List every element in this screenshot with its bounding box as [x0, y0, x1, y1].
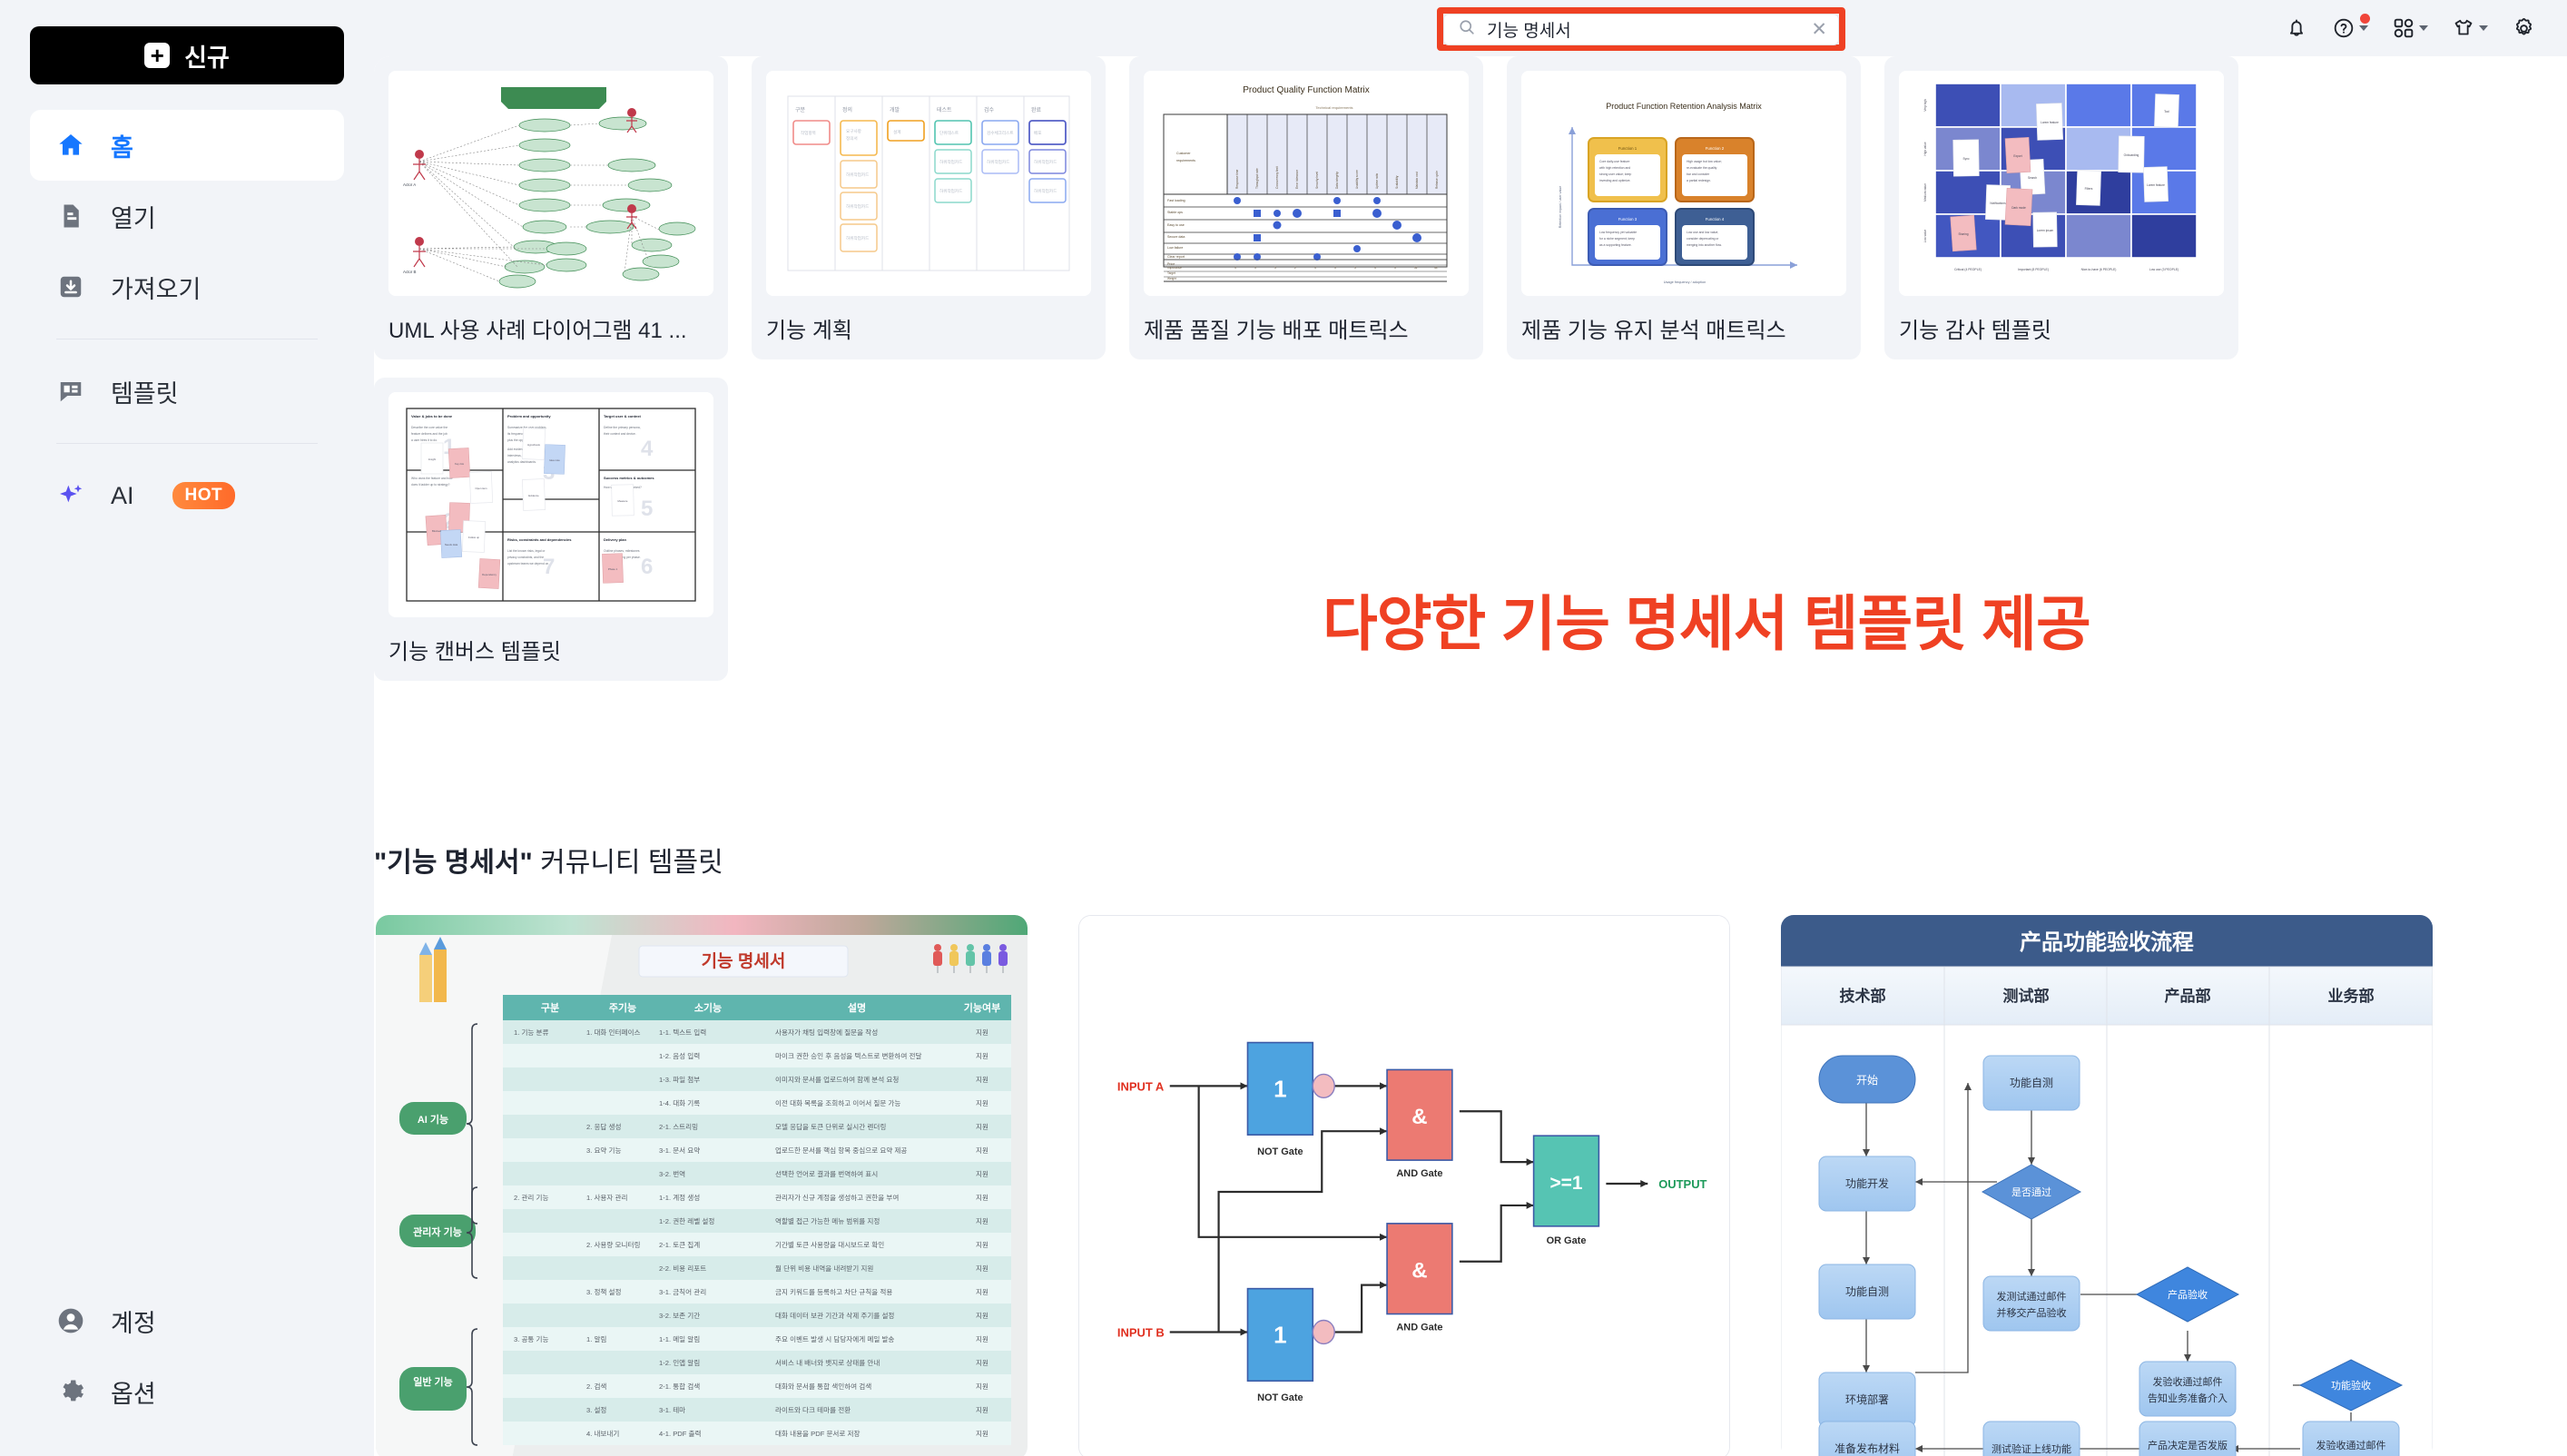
svg-text:지원: 지원 [976, 1430, 988, 1438]
sidebar-item-label: 템플릿 [111, 374, 179, 409]
svg-text:하위작업카드: 하위작업카드 [939, 188, 962, 194]
settings-gear-icon[interactable] [2512, 16, 2536, 41]
search-bar[interactable]: 기능 명세서 ✕ [1443, 14, 1839, 45]
flow-node: 是否通过 [2011, 1186, 2051, 1198]
svg-text:테스트: 테스트 [937, 106, 952, 113]
svg-text:라이트와 다크 테마를 전환: 라이트와 다크 테마를 전환 [775, 1405, 851, 1414]
sidebar-item-home[interactable]: 홈 [30, 110, 344, 181]
lane-header: 技术部 [1840, 987, 1886, 1005]
svg-text:지원: 지원 [976, 1076, 988, 1084]
svg-text:4: 4 [641, 437, 654, 461]
svg-text:3. 설정: 3. 설정 [586, 1405, 606, 1414]
svg-text:Dark mode: Dark mode [2011, 206, 2026, 210]
svg-text:Stable ops: Stable ops [1167, 211, 1183, 214]
svg-text:Success metrics & outcomes: Success metrics & outcomes [604, 476, 654, 480]
svg-text:Function 4: Function 4 [1706, 217, 1725, 221]
svg-text:1-2. 음성 입력: 1-2. 음성 입력 [659, 1052, 700, 1060]
svg-text:4: 4 [1234, 266, 1236, 270]
thumb-title: Product Function Retention Analysis Matr… [1606, 102, 1762, 111]
svg-text:4-1. PDF 출력: 4-1. PDF 출력 [659, 1429, 701, 1438]
svg-text:strong user value; keep: strong user value; keep [1599, 172, 1631, 176]
svg-text:Retention impact / user value: Retention impact / user value [1559, 186, 1562, 229]
chevron-down-icon[interactable] [2479, 25, 2488, 31]
gate-symbol: 1 [1274, 1077, 1286, 1102]
svg-text:3-2. 보존 기간: 3-2. 보존 기간 [659, 1311, 700, 1320]
svg-text:Describe the core value the: Describe the core value the [411, 426, 448, 429]
gate-label: AND Gate [1396, 1322, 1442, 1333]
gate-symbol: >=1 [1549, 1173, 1582, 1194]
svg-text:지원: 지원 [976, 1123, 988, 1131]
svg-text:검수: 검수 [984, 107, 995, 113]
community-section-heading: "기능 명세서" 커뮤니티 템플릿 [374, 840, 723, 880]
svg-text:Open item: Open item [476, 487, 488, 490]
svg-text:관리자가 신규 계정을 생성하고 권한을 부여: 관리자가 신규 계정을 생성하고 권한을 부여 [775, 1193, 899, 1202]
home-icon [56, 131, 85, 160]
topbar-icons [2285, 16, 2536, 41]
svg-text:Security level: Security level [1315, 172, 1319, 189]
community-heading-query: "기능 명세서" [374, 848, 533, 878]
topbar: 기능 명세서 ✕ [374, 0, 2567, 56]
svg-text:feature delivers and the job: feature delivers and the job [411, 432, 448, 436]
svg-text:정의: 정의 [842, 106, 852, 113]
flow-node: 功能自测 [1845, 1285, 1889, 1298]
input-label: INPUT B [1117, 1325, 1165, 1339]
flow-node: 发验收通过邮件 [2316, 1439, 2386, 1451]
svg-text:Very high: Very high [1923, 99, 1927, 112]
svg-text:구분: 구분 [795, 107, 806, 113]
svg-text:2: 2 [1294, 266, 1296, 270]
template-thumbnail: Product Function Retention Analysis Matr… [1521, 71, 1846, 296]
svg-text:3: 3 [1334, 266, 1336, 270]
chevron-down-icon[interactable] [2359, 25, 2368, 31]
svg-text:requirements: requirements [1176, 159, 1195, 162]
svg-text:검수체크리스트: 검수체크리스트 [987, 130, 1014, 136]
svg-text:Target: Target [1167, 271, 1175, 275]
community-card-flowchart[interactable]: 产品功能验收流程 技术部 测试部 产品部 业务部 [1781, 915, 2433, 1456]
svg-text:지원: 지원 [976, 1170, 988, 1178]
sidebar-item-open[interactable]: 열기 [30, 181, 344, 251]
svg-text:Technical requirements: Technical requirements [1315, 105, 1352, 110]
svg-text:4: 4 [1374, 266, 1376, 270]
svg-text:Weight: Weight [1167, 277, 1176, 280]
svg-text:Evidence: Evidence [528, 494, 539, 497]
template-card-title: 제품 품질 기능 배포 매트릭스 [1144, 296, 1469, 359]
svg-text:업로드한 문서를 핵심 항목 중심으로 요약 제공: 업로드한 문서를 핵심 항목 중심으로 요약 제공 [775, 1146, 907, 1155]
sidebar-item-template[interactable]: 템플릿 [30, 356, 344, 427]
svg-text:privacy constraints, and the: privacy constraints, and the [507, 556, 544, 559]
svg-text:Scalability: Scalability [1395, 175, 1399, 189]
notification-bell-icon[interactable] [2285, 16, 2308, 40]
svg-text:Lorem feature: Lorem feature [2147, 183, 2165, 187]
flow-node: 测试验证上线功能 [1992, 1442, 2071, 1455]
svg-text:5: 5 [1354, 266, 1356, 270]
svg-text:월 단위 비용 내역을 내려받기 지원: 월 단위 비용 내역을 내려받기 지원 [775, 1264, 873, 1273]
col-header: 주기능 [609, 1001, 636, 1014]
sidebar-item-label: 열기 [111, 199, 156, 234]
svg-text:1-1. 텍스트 입력: 1-1. 텍스트 입력 [659, 1028, 706, 1037]
sidebar-nav: 홈 열기 가져오기 템플릿 [30, 110, 344, 531]
svg-text:3-2. 번역: 3-2. 번역 [659, 1169, 685, 1178]
svg-text:지원: 지원 [976, 1406, 988, 1414]
flow-node: 环境部署 [1845, 1393, 1889, 1406]
sidebar-item-label: 계정 [111, 1304, 156, 1339]
sidebar-item-import[interactable]: 가져오기 [30, 251, 344, 322]
apps-grid-icon[interactable] [2392, 16, 2428, 40]
svg-text:Clear report: Clear report [1167, 255, 1185, 259]
svg-text:하위작업카드: 하위작업카드 [1034, 159, 1057, 165]
svg-text:Dependency: Dependency [482, 573, 497, 576]
svg-text:Maintain cost: Maintain cost [1415, 172, 1419, 189]
flow-node: 产品决定是否发版 [2148, 1439, 2228, 1451]
gate-label: AND Gate [1396, 1168, 1442, 1179]
svg-text:52: 52 [1414, 266, 1418, 270]
svg-text:for a niche segment; keep: for a niche segment; keep [1599, 237, 1635, 241]
svg-text:1-2. 인앱 알림: 1-2. 인앱 알림 [659, 1358, 700, 1367]
svg-text:Customer: Customer [1176, 152, 1191, 155]
svg-text:지원: 지원 [976, 1382, 988, 1391]
svg-text:Nice-to-have (6 PEOPLE): Nice-to-have (6 PEOPLE) [2081, 268, 2117, 271]
svg-text:지원: 지원 [976, 1264, 988, 1273]
svg-text:Easy to use: Easy to use [1167, 223, 1185, 227]
svg-text:Filters: Filters [2085, 187, 2093, 191]
svg-text:Define the primary persona,: Define the primary persona, [604, 426, 641, 429]
svg-text:2-2. 비용 리포트: 2-2. 비용 리포트 [659, 1264, 706, 1273]
flow-node: 准备发布材料 [1834, 1441, 1900, 1455]
account-icon [56, 1306, 85, 1335]
svg-text:Search: Search [2028, 176, 2037, 180]
svg-text:Response time: Response time [1235, 170, 1239, 189]
svg-text:does it ladder up to strategy?: does it ladder up to strategy? [411, 483, 450, 487]
col-header: 소기능 [694, 1001, 722, 1014]
svg-text:2. 관리 기능: 2. 관리 기능 [514, 1193, 549, 1202]
svg-text:44: 44 [1434, 266, 1438, 270]
svg-text:2-1. 토큰 집계: 2-1. 토큰 집계 [659, 1240, 700, 1249]
svg-text:하위작업카드: 하위작업카드 [846, 235, 869, 241]
template-card[interactable]: 구분정의개발 테스트검수완료 [752, 56, 1106, 359]
sidebar-item-ai[interactable]: AI HOT [30, 460, 344, 531]
col-header: 구분 [541, 1002, 559, 1014]
svg-text:마이크 권한 승인 후 음성을 텍스트로 변환하여 전달: 마이크 권한 승인 후 음성을 텍스트로 변환하여 전달 [775, 1051, 921, 1060]
community-card-logic-gates[interactable]: 1 NOT Gate 1 NOT Gate & AND Gate & [1078, 915, 1730, 1456]
svg-text:지원: 지원 [976, 1146, 988, 1155]
search-icon [1458, 18, 1476, 41]
svg-text:3: 3 [1254, 266, 1256, 270]
svg-text:analytics dashboards.: analytics dashboards. [507, 460, 536, 464]
plus-icon: + [144, 43, 170, 68]
svg-text:단위테스트: 단위테스트 [939, 130, 959, 136]
svg-text:Hypothesis: Hypothesis [527, 443, 540, 447]
flow-node: 功能验收 [2331, 1379, 2371, 1392]
gate-symbol: & [1411, 1259, 1427, 1284]
svg-text:Export: Export [2013, 154, 2021, 158]
svg-text:1. 사용자 관리: 1. 사용자 관리 [586, 1193, 627, 1202]
svg-text:완료: 완료 [1031, 106, 1042, 113]
svg-text:Follow up: Follow up [468, 536, 479, 539]
svg-text:5: 5 [1274, 266, 1276, 270]
svg-text:1-1. 메일 알림: 1-1. 메일 알림 [659, 1334, 700, 1343]
svg-text:Outline phases, milestones: Outline phases, milestones [604, 549, 640, 553]
svg-text:서비스 내 배너와 뱃지로 상태를 안내: 서비스 내 배너와 뱃지로 상태를 안내 [775, 1358, 880, 1367]
lane-header: 业务部 [2328, 987, 2375, 1005]
svg-text:지원: 지원 [976, 1099, 988, 1107]
col-header: 기능여부 [964, 1001, 1000, 1014]
svg-text:Insight: Insight [428, 457, 436, 461]
content-panel: Actor AActor B UML 사용 사례 다이어그램 41 ... [374, 56, 2567, 1456]
svg-text:지원: 지원 [976, 1335, 988, 1343]
flow-node: 产品验收 [2168, 1288, 2208, 1301]
svg-text:하위작업카드: 하위작업카드 [987, 159, 1009, 165]
gate-label: NOT Gate [1257, 1146, 1303, 1157]
gate-symbol: 1 [1274, 1323, 1286, 1348]
help-question-icon[interactable] [2332, 16, 2368, 40]
svg-text:Error tolerance: Error tolerance [1295, 170, 1299, 189]
svg-text:1-4. 대화 기록: 1-4. 대화 기록 [659, 1099, 700, 1107]
svg-text:Throughput rate: Throughput rate [1255, 168, 1259, 189]
svg-text:Sync: Sync [1962, 157, 1969, 161]
sparkle-icon [56, 481, 85, 510]
flow-node: 发验收通过邮件 [2153, 1375, 2223, 1388]
template-card[interactable]: Lorem featureTool SyncOnboarding SearchF… [1884, 56, 2238, 359]
group-pill: AI 기능 [418, 1113, 448, 1126]
lane-header: 产品部 [2165, 987, 2211, 1005]
svg-text:2. 사용량 모니터링: 2. 사용량 모니터링 [586, 1240, 640, 1249]
template-card[interactable]: Actor AActor B UML 사용 사례 다이어그램 41 ... [374, 56, 728, 359]
svg-text:3-1. 문서 요약: 3-1. 문서 요약 [659, 1146, 700, 1155]
template-card[interactable]: Product Quality Function Matrix Technica… [1129, 56, 1483, 359]
sidebar-bottom: 계정 옵션 [30, 1285, 344, 1427]
svg-text:지원: 지원 [976, 1359, 988, 1367]
svg-text:High usage but low value;: High usage but low value; [1687, 160, 1722, 163]
svg-text:their context and device.: their context and device. [604, 432, 636, 436]
svg-text:List the known risks, legal or: List the known risks, legal or [507, 549, 546, 553]
svg-text:7: 7 [543, 555, 555, 579]
search-input[interactable]: 기능 명세서 [1487, 17, 1800, 42]
svg-text:Risks, constraints and depende: Risks, constraints and dependencies [507, 537, 572, 542]
sidebar: + 신규 홈 열기 가져오기 [0, 0, 374, 1456]
gate-label: NOT Gate [1257, 1392, 1303, 1403]
community-card-spec-table[interactable]: 기능 명세서 [376, 915, 1028, 1456]
svg-text:대화 내용을 PDF 문서로 저장: 대화 내용을 PDF 문서로 저장 [775, 1429, 861, 1438]
svg-text:지원: 지원 [976, 1028, 988, 1037]
sidebar-item-label: 가져오기 [111, 270, 201, 305]
svg-text:2. 응답 생성: 2. 응답 생성 [586, 1122, 622, 1131]
svg-text:Onboarding: Onboarding [2124, 153, 2139, 157]
svg-text:a partial redesign.: a partial redesign. [1687, 179, 1711, 182]
svg-text:Function 3: Function 3 [1618, 217, 1638, 221]
svg-text:하위작업카드: 하위작업카드 [1034, 188, 1057, 194]
svg-text:Usability score: Usability score [1355, 170, 1359, 189]
sidebar-divider [56, 443, 318, 444]
lane-header: 测试部 [2003, 987, 2050, 1005]
community-template-grid: 기능 명세서 [376, 915, 2433, 1456]
gate-symbol: & [1411, 1105, 1427, 1129]
sidebar-item-label: 옵션 [111, 1374, 156, 1410]
svg-text:High value: High value [1923, 142, 1927, 155]
svg-text:요구사항: 요구사항 [846, 128, 862, 134]
svg-text:with high retention and: with high retention and [1599, 166, 1630, 170]
svg-text:지원: 지원 [976, 1288, 988, 1296]
svg-text:지원: 지원 [976, 1052, 988, 1060]
svg-text:Concurrency limit: Concurrency limit [1275, 166, 1279, 189]
svg-text:지원: 지원 [976, 1312, 988, 1320]
template-card-title: 기능 계획 [766, 296, 1091, 359]
svg-text:하위작업카드: 하위작업카드 [846, 172, 869, 178]
svg-text:2. 검색: 2. 검색 [586, 1382, 606, 1391]
svg-text:Low use (3 PEOPLE): Low use (3 PEOPLE) [2149, 268, 2179, 271]
svg-text:consider deprecating or: consider deprecating or [1687, 237, 1719, 241]
sidebar-item-account[interactable]: 계정 [30, 1285, 344, 1356]
chevron-down-icon[interactable] [2419, 25, 2428, 31]
flow-node: 开始 [1856, 1074, 1878, 1087]
svg-text:Important (8 PEOPLE): Important (8 PEOPLE) [2018, 268, 2049, 271]
svg-text:지원: 지원 [976, 1241, 988, 1249]
svg-text:Release cycle: Release cycle [1435, 171, 1439, 189]
svg-text:Delivery plan: Delivery plan [604, 537, 626, 542]
group-pill: 일반 기능 [413, 1375, 453, 1388]
template-icon [56, 377, 85, 406]
input-label: INPUT A [1117, 1079, 1165, 1093]
svg-text:대화와 문서를 통합 색인하여 검색: 대화와 문서를 통합 색인하여 검색 [775, 1382, 871, 1391]
svg-text:지원: 지원 [976, 1217, 988, 1225]
svg-text:as a supporting feature.: as a supporting feature. [1599, 243, 1632, 247]
new-button-label: 신규 [184, 38, 230, 74]
template-card-title: UML 사용 사례 다이어그램 41 ... [388, 296, 713, 359]
svg-text:3-1. 테마: 3-1. 테마 [659, 1406, 685, 1414]
svg-text:Usage frequency / adoption: Usage frequency / adoption [1664, 280, 1706, 284]
svg-text:Secure data: Secure data [1167, 235, 1185, 239]
community-heading-rest: 커뮤니티 템플릿 [533, 848, 723, 878]
col-header: 설명 [848, 1001, 866, 1014]
svg-text:1. 알림: 1. 알림 [586, 1334, 606, 1343]
svg-text:Problem and opportunity: Problem and opportunity [507, 414, 551, 418]
sidebar-item-label: AI [111, 482, 134, 510]
svg-text:기간별 토큰 사용량을 대시보드로 확인: 기간별 토큰 사용량을 대시보드로 확인 [775, 1240, 884, 1249]
svg-text:Core daily-use feature: Core daily-use feature [1599, 160, 1629, 163]
template-thumbnail: Value & jobs to be done Problem and oppo… [388, 392, 713, 617]
svg-text:Tool: Tool [2164, 110, 2169, 113]
template-card[interactable]: Product Function Retention Analysis Matr… [1507, 56, 1861, 359]
svg-text:Target user & context: Target user & context [604, 414, 641, 418]
new-button[interactable]: + 신규 [30, 26, 344, 84]
svg-text:Notifications: Notifications [1990, 202, 2006, 205]
svg-text:Fast loading: Fast loading [1167, 199, 1185, 202]
svg-text:Low value: Low value [1923, 230, 1927, 243]
svg-text:并移交产品验收: 并移交产品验收 [1997, 1306, 2067, 1319]
close-icon[interactable]: ✕ [1811, 20, 1827, 39]
flow-node: 功能自测 [2010, 1077, 2053, 1089]
template-card-title: 기능 감사 템플릿 [1899, 296, 2224, 359]
template-card-title: 제품 기능 유지 분석 매트릭스 [1521, 296, 1846, 359]
svg-text:merging into another flow.: merging into another flow. [1687, 243, 1722, 247]
svg-text:Needs data: Needs data [445, 543, 458, 546]
output-label: OUTPUT [1658, 1177, 1706, 1191]
svg-text:Who owns the feature and how: Who owns the feature and how [411, 477, 453, 480]
svg-text:Blocked: Blocked [432, 529, 441, 533]
svg-text:Sharing: Sharing [1959, 232, 1969, 236]
document-icon [56, 202, 85, 231]
svg-text:지원: 지원 [976, 1194, 988, 1202]
flow-node: 功能开发 [1845, 1176, 1889, 1190]
template-thumbnail: 구분정의개발 테스트검수완료 [766, 71, 1091, 296]
svg-text:대화 데이터 보관 기간과 삭제 주기를 설정: 대화 데이터 보관 기간과 삭제 주기를 설정 [775, 1311, 894, 1320]
svg-text:정의서: 정의서 [846, 135, 858, 142]
svg-text:Lorem feature: Lorem feature [2041, 121, 2059, 124]
svg-text:주요 이벤트 발생 시 담당자에게 메일 발송: 주요 이벤트 발생 시 담당자에게 메일 발송 [775, 1334, 894, 1343]
svg-text:3: 3 [1394, 266, 1396, 270]
sidebar-item-label: 홈 [111, 128, 133, 163]
svg-text:investing and optimize.: investing and optimize. [1599, 179, 1631, 182]
template-thumbnail: Lorem featureTool SyncOnboarding SearchF… [1899, 71, 2224, 296]
template-thumbnail: Product Quality Function Matrix Technica… [1144, 71, 1469, 296]
svg-text:Function 2: Function 2 [1706, 146, 1725, 151]
flowchart-title: 产品功能验收流程 [2020, 930, 2194, 955]
svg-text:설계: 설계 [893, 129, 900, 135]
svg-text:4. 내보내기: 4. 내보내기 [586, 1430, 619, 1438]
svg-text:Importance: Importance [1167, 266, 1182, 270]
svg-text:Data integrity: Data integrity [1335, 172, 1339, 189]
theme-shirt-icon[interactable] [2452, 16, 2488, 40]
svg-text:3. 공통 기능: 3. 공통 기능 [514, 1335, 549, 1343]
template-card[interactable]: Value & jobs to be done Problem and oppo… [374, 378, 728, 681]
svg-text:1. 기능 분류: 1. 기능 분류 [514, 1028, 549, 1037]
svg-text:Function 1: Function 1 [1618, 146, 1638, 151]
svg-text:Value & jobs to be done: Value & jobs to be done [411, 414, 453, 418]
sidebar-item-options[interactable]: 옵션 [30, 1356, 344, 1427]
notification-dot [2360, 14, 2370, 24]
promo-banner-text: 다양한 기능 명세서 템플릿 제공 [1323, 576, 2267, 663]
svg-text:3. 정책 설정: 3. 정책 설정 [586, 1287, 622, 1296]
svg-text:Actor A: Actor A [403, 182, 416, 187]
svg-text:역할별 접근 가능한 메뉴 범위를 지정: 역할별 접근 가능한 메뉴 범위를 지정 [775, 1216, 880, 1225]
sidebar-divider [56, 339, 318, 339]
flow-node: 发测试通过邮件 [1997, 1290, 2067, 1303]
svg-text:Low use and low value;: Low use and low value; [1687, 231, 1718, 234]
svg-text:1-1. 계정 생성: 1-1. 계정 생성 [659, 1193, 700, 1202]
svg-text:선택한 언어로 결과를 번역하여 표시: 선택한 언어로 결과를 번역하여 표시 [775, 1169, 878, 1178]
svg-text:Low frequency yet valuable: Low frequency yet valuable [1599, 231, 1637, 234]
svg-text:2-1. 통합 검색: 2-1. 통합 검색 [659, 1382, 700, 1391]
svg-text:Phase 1: Phase 1 [608, 567, 618, 571]
svg-text:Idea note: Idea note [549, 458, 560, 462]
svg-text:Actor B: Actor B [403, 270, 416, 274]
svg-text:4: 4 [1314, 266, 1316, 270]
svg-text:배포: 배포 [1034, 130, 1041, 136]
svg-text:이전 대화 목록을 조회하고 이어서 질문 가능: 이전 대화 목록을 조회하고 이어서 질문 가능 [775, 1098, 900, 1107]
svg-text:Uptime ratio: Uptime ratio [1375, 173, 1379, 189]
svg-text:Critical (4 PEOPLE): Critical (4 PEOPLE) [1954, 268, 1982, 271]
hot-badge: HOT [172, 482, 236, 509]
spec-table-title: 기능 명세서 [702, 951, 786, 971]
svg-text:하위작업카드: 하위작업카드 [846, 203, 869, 210]
svg-text:re-evaluate the quality: re-evaluate the quality [1687, 166, 1717, 170]
svg-text:a user hires it to do.: a user hires it to do. [411, 438, 438, 442]
svg-text:Medium value: Medium value [1923, 183, 1927, 202]
svg-text:Measure: Measure [618, 499, 628, 503]
gate-label: OR Gate [1547, 1235, 1587, 1246]
svg-text:사용자가 채팅 입력창에 질문을 작성: 사용자가 채팅 입력창에 질문을 작성 [775, 1028, 878, 1037]
svg-text:告知业务准备介入: 告知业务准备介入 [2148, 1392, 2228, 1404]
svg-text:3. 요약 기능: 3. 요약 기능 [586, 1146, 622, 1155]
svg-text:3-1. 금칙어 관리: 3-1. 금칙어 관리 [659, 1287, 706, 1296]
main-area: 기능 명세서 ✕ [374, 0, 2567, 1456]
svg-text:이미지와 문서를 업로드하여 함께 분석 요청: 이미지와 문서를 업로드하여 함께 분석 요청 [775, 1075, 899, 1084]
application-window: + 신규 홈 열기 가져오기 [0, 0, 2567, 1456]
svg-text:5: 5 [641, 497, 653, 521]
svg-text:1-2. 권한 레벨 설정: 1-2. 권한 레벨 설정 [659, 1216, 714, 1225]
svg-text:작업항목: 작업항목 [801, 130, 816, 136]
group-pill: 관리자 기능 [413, 1225, 462, 1238]
template-card-title: 기능 캔버스 템플릿 [388, 617, 713, 681]
